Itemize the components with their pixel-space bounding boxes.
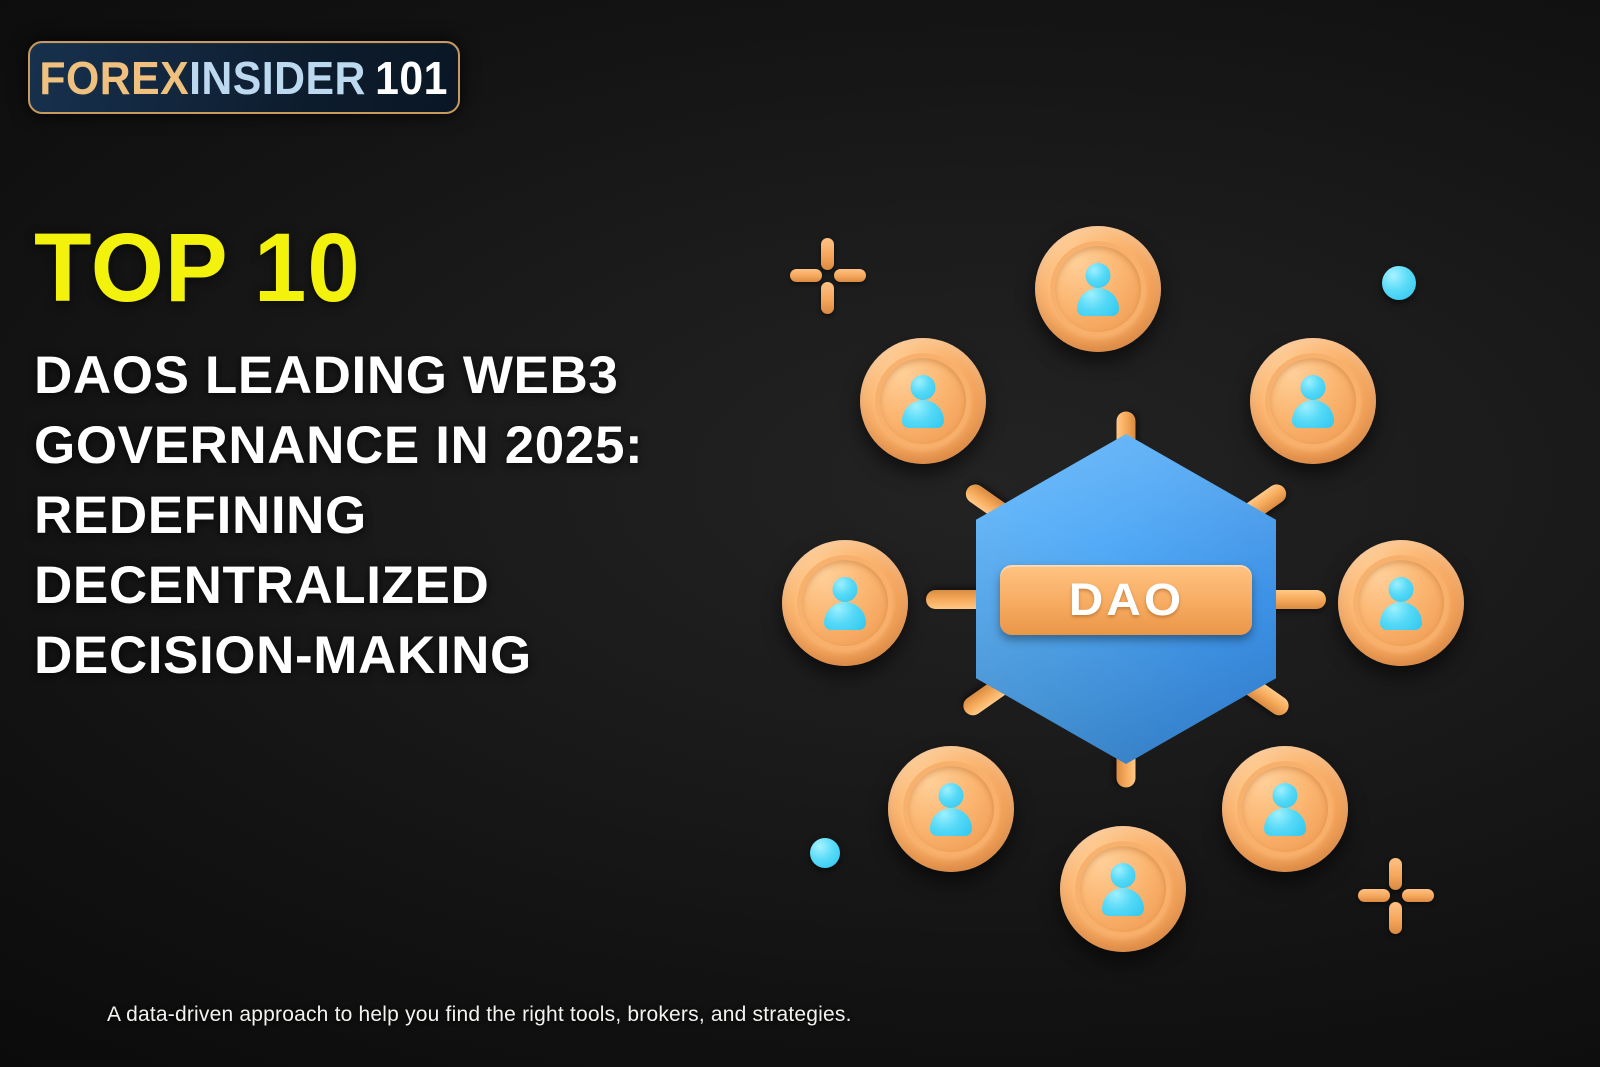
sparkle-plus-top-left xyxy=(790,238,866,314)
member-node-bottom-left xyxy=(888,746,1014,872)
user-icon xyxy=(1095,861,1151,917)
user-icon xyxy=(895,373,951,429)
sparkle-bar-left xyxy=(790,269,822,282)
member-node-top-right xyxy=(1250,338,1376,464)
user-icon-body xyxy=(1077,288,1119,316)
accent-dot-top-right xyxy=(1382,266,1416,300)
brand-logo-101: 101 xyxy=(376,52,449,104)
dao-network-illustration: DAO xyxy=(760,198,1490,998)
user-icon-body xyxy=(824,602,866,630)
sparkle-plus-bottom-right xyxy=(1358,858,1434,934)
member-node-right xyxy=(1338,540,1464,666)
user-icon-body xyxy=(1102,888,1144,916)
user-icon-head xyxy=(1086,263,1111,288)
user-icon xyxy=(1285,373,1341,429)
member-node-bottom xyxy=(1060,826,1186,952)
user-icon xyxy=(1070,261,1126,317)
user-icon-head xyxy=(1301,375,1326,400)
user-icon-head xyxy=(1111,863,1136,888)
footer-tagline: A data-driven approach to help you find … xyxy=(107,1003,852,1027)
poster-canvas: FOREXINSIDER101 TOP 10 DAOS LEADING WEB3… xyxy=(0,0,1600,1067)
hero-text-column: TOP 10 DAOS LEADING WEB3 GOVERNANCE IN 2… xyxy=(34,222,734,691)
dao-label-text: DAO xyxy=(1068,577,1184,622)
brand-logo-badge[interactable]: FOREXINSIDER101 xyxy=(28,41,460,114)
hero-headline: DAOS LEADING WEB3 GOVERNANCE IN 2025: RE… xyxy=(34,341,694,691)
user-icon xyxy=(1373,575,1429,631)
member-node-left xyxy=(782,540,908,666)
brand-logo-forex: FOREX xyxy=(40,52,190,104)
sparkle-bar-top xyxy=(1389,858,1402,890)
sparkle-bar-bottom xyxy=(1389,902,1402,934)
user-icon xyxy=(923,781,979,837)
sparkle-bar-right xyxy=(1402,889,1434,902)
sparkle-bar-left xyxy=(1358,889,1390,902)
member-node-top xyxy=(1035,226,1161,352)
hero-eyebrow: TOP 10 xyxy=(34,222,713,313)
member-node-top-left xyxy=(860,338,986,464)
brand-logo-text: FOREXINSIDER101 xyxy=(40,55,449,101)
user-icon-head xyxy=(1273,783,1298,808)
user-icon-head xyxy=(1389,577,1414,602)
user-icon xyxy=(1257,781,1313,837)
dao-hexagon: DAO xyxy=(976,434,1276,764)
sparkle-bar-top xyxy=(821,238,834,270)
user-icon-body xyxy=(902,400,944,428)
user-icon-body xyxy=(1292,400,1334,428)
accent-dot-bottom-left xyxy=(810,838,840,868)
user-icon xyxy=(817,575,873,631)
user-icon-body xyxy=(1264,808,1306,836)
member-node-bottom-right xyxy=(1222,746,1348,872)
user-icon-head xyxy=(911,375,936,400)
sparkle-bar-right xyxy=(834,269,866,282)
user-icon-body xyxy=(930,808,972,836)
user-icon-head xyxy=(939,783,964,808)
sparkle-bar-bottom xyxy=(821,282,834,314)
dao-label-plate: DAO xyxy=(1000,565,1252,635)
user-icon-body xyxy=(1380,602,1422,630)
brand-logo-insider: INSIDER xyxy=(189,52,366,104)
user-icon-head xyxy=(833,577,858,602)
